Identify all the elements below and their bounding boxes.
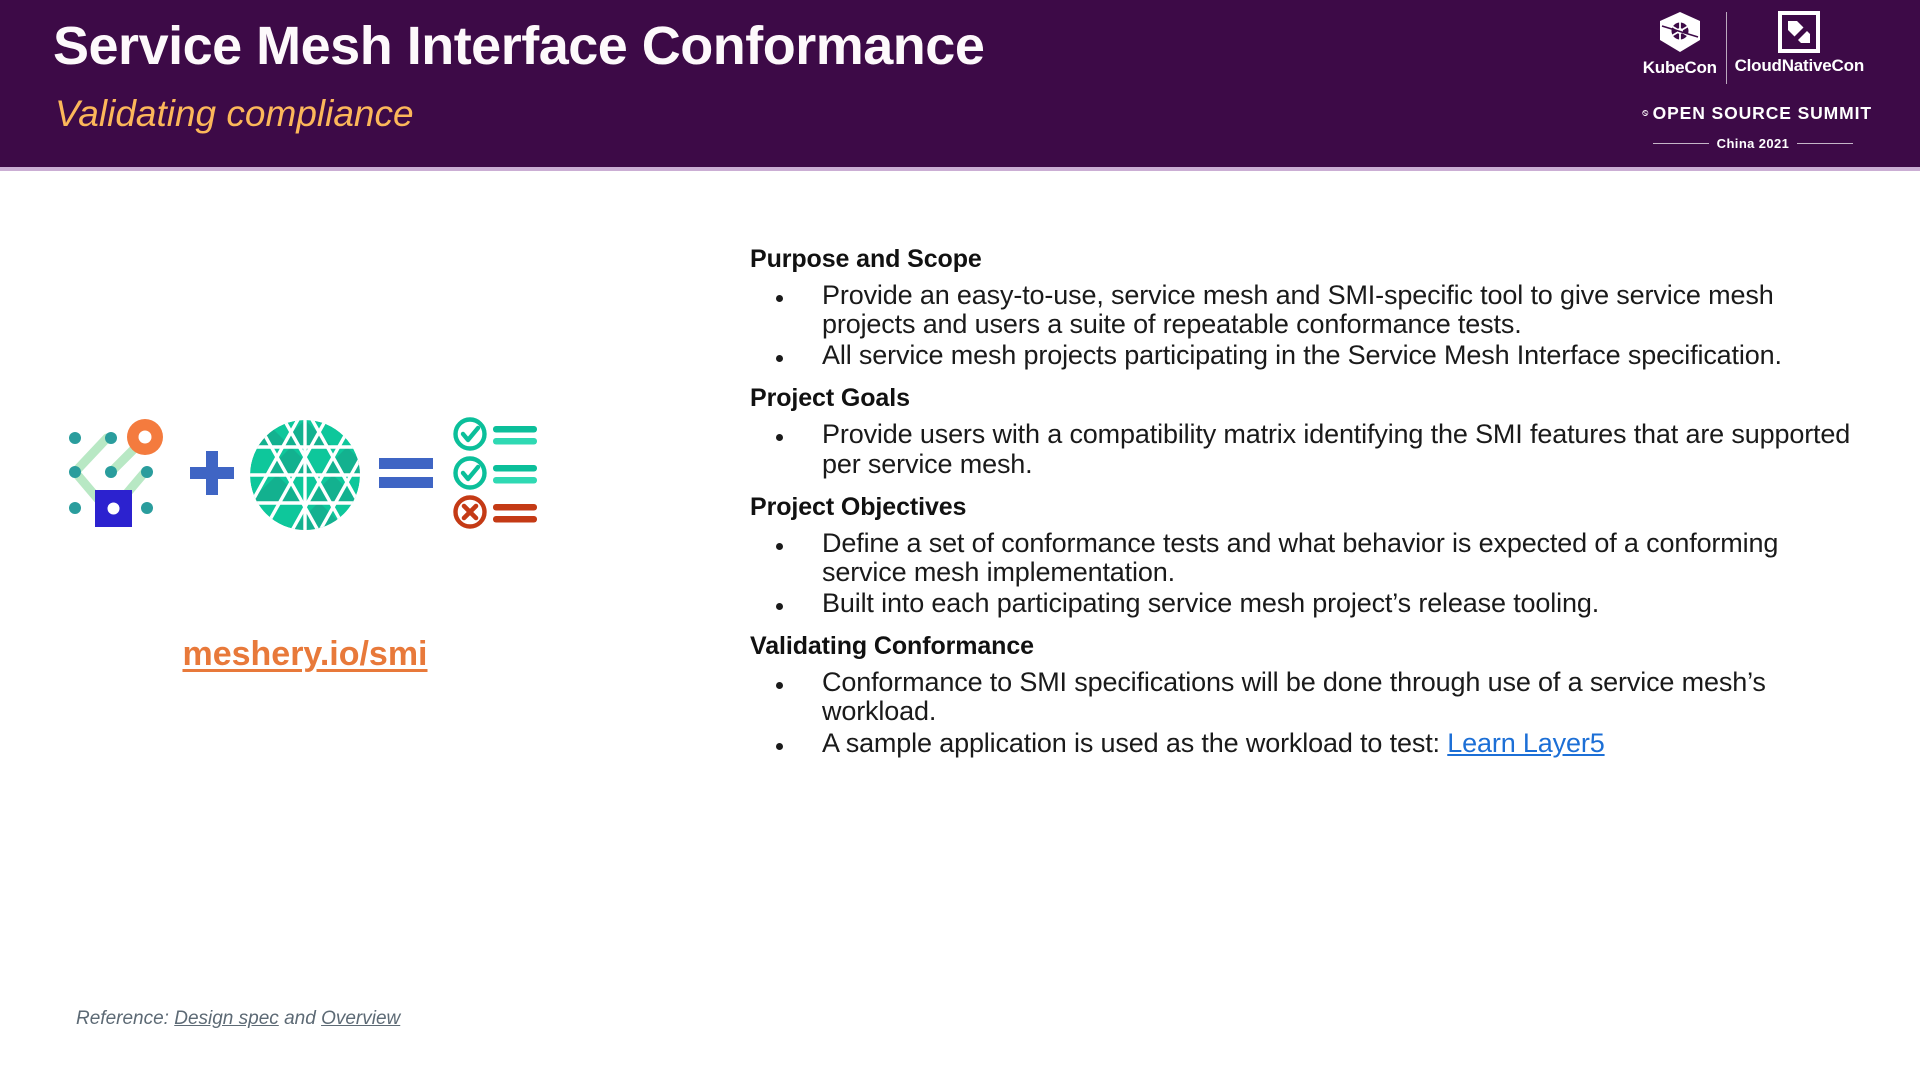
- bullet-list: Conformance to SMI specifications will b…: [750, 668, 1870, 757]
- open-source-summit-s-icon: [1642, 96, 1649, 130]
- cloudnativecon-lockup: CloudNativeCon: [1727, 10, 1872, 76]
- cncf-icon: [1777, 10, 1821, 54]
- open-source-summit-label: OPEN SOURCE SUMMIT: [1653, 103, 1872, 124]
- logo-top-row: KubeCon CloudNativeCon: [1634, 10, 1872, 94]
- conference-year-label: China 2021: [1717, 136, 1790, 151]
- reference-footer: Reference: Design spec and Overview: [76, 1008, 400, 1030]
- section-heading: Project Objectives: [750, 493, 1870, 522]
- result-row-pass-1: [456, 419, 538, 448]
- smi-logo-icon: [55, 410, 175, 540]
- page-subtitle: Validating compliance: [55, 93, 414, 135]
- section-validating-conformance: Validating Conformance Conformance to SM…: [750, 632, 1870, 757]
- learn-layer5-link[interactable]: Learn Layer5: [1447, 728, 1604, 758]
- reference-overview-link[interactable]: Overview: [321, 1008, 400, 1029]
- equals-operator: [361, 456, 451, 495]
- result-row-fail: [456, 497, 538, 526]
- list-item: Define a set of conformance tests and wh…: [750, 529, 1870, 587]
- section-purpose-and-scope: Purpose and Scope Provide an easy-to-use…: [750, 245, 1870, 370]
- conference-logo: KubeCon CloudNativeCon OPEN SOURCE SUMMI…: [1634, 10, 1872, 150]
- reference-conjunction: and: [284, 1008, 316, 1029]
- list-item: Built into each participating service me…: [750, 589, 1870, 618]
- kubecon-lockup: KubeCon: [1634, 10, 1726, 78]
- content-body: Purpose and Scope Provide an easy-to-use…: [750, 245, 1870, 760]
- list-item: Provide an easy-to-use, service mesh and…: [750, 281, 1870, 339]
- plus-operator: [175, 447, 249, 504]
- section-heading: Purpose and Scope: [750, 245, 1870, 274]
- list-item: All service mesh projects participating …: [750, 341, 1870, 370]
- year-rule-right: [1797, 143, 1853, 144]
- header-accent-rule: [0, 167, 1920, 171]
- conformance-results-icon: [451, 417, 541, 534]
- year-rule-left: [1653, 143, 1709, 144]
- bullet-list: Define a set of conformance tests and wh…: [750, 529, 1870, 618]
- list-item-with-link: A sample application is used as the work…: [750, 729, 1870, 758]
- reference-design-spec-link[interactable]: Design spec: [174, 1008, 279, 1029]
- kubecon-label: KubeCon: [1643, 58, 1717, 78]
- service-mesh-sphere-icon: [249, 419, 361, 531]
- section-project-goals: Project Goals Provide users with a compa…: [750, 384, 1870, 478]
- bullet-list: Provide users with a compatibility matri…: [750, 420, 1870, 478]
- logo-bottom-row: OPEN SOURCE SUMMIT: [1634, 96, 1872, 130]
- logo-year-row: China 2021: [1634, 136, 1872, 151]
- list-item: Conformance to SMI specifications will b…: [750, 668, 1870, 726]
- page-title: Service Mesh Interface Conformance: [53, 16, 984, 76]
- list-item-text: A sample application is used as the work…: [822, 728, 1447, 758]
- meshery-smi-link[interactable]: meshery.io/smi: [55, 635, 555, 674]
- slide: Service Mesh Interface Conformance Valid…: [0, 0, 1920, 1080]
- result-row-pass-2: [456, 458, 538, 487]
- bullet-list: Provide an easy-to-use, service mesh and…: [750, 281, 1870, 370]
- section-heading: Project Goals: [750, 384, 1870, 413]
- reference-prefix: Reference:: [76, 1008, 169, 1029]
- section-heading: Validating Conformance: [750, 632, 1870, 661]
- section-project-objectives: Project Objectives Define a set of confo…: [750, 493, 1870, 618]
- list-item: Provide users with a compatibility matri…: [750, 420, 1870, 478]
- kubernetes-helm-icon: [1656, 10, 1704, 56]
- equation-graphic: [55, 405, 635, 545]
- cloudnativecon-label: CloudNativeCon: [1735, 56, 1864, 76]
